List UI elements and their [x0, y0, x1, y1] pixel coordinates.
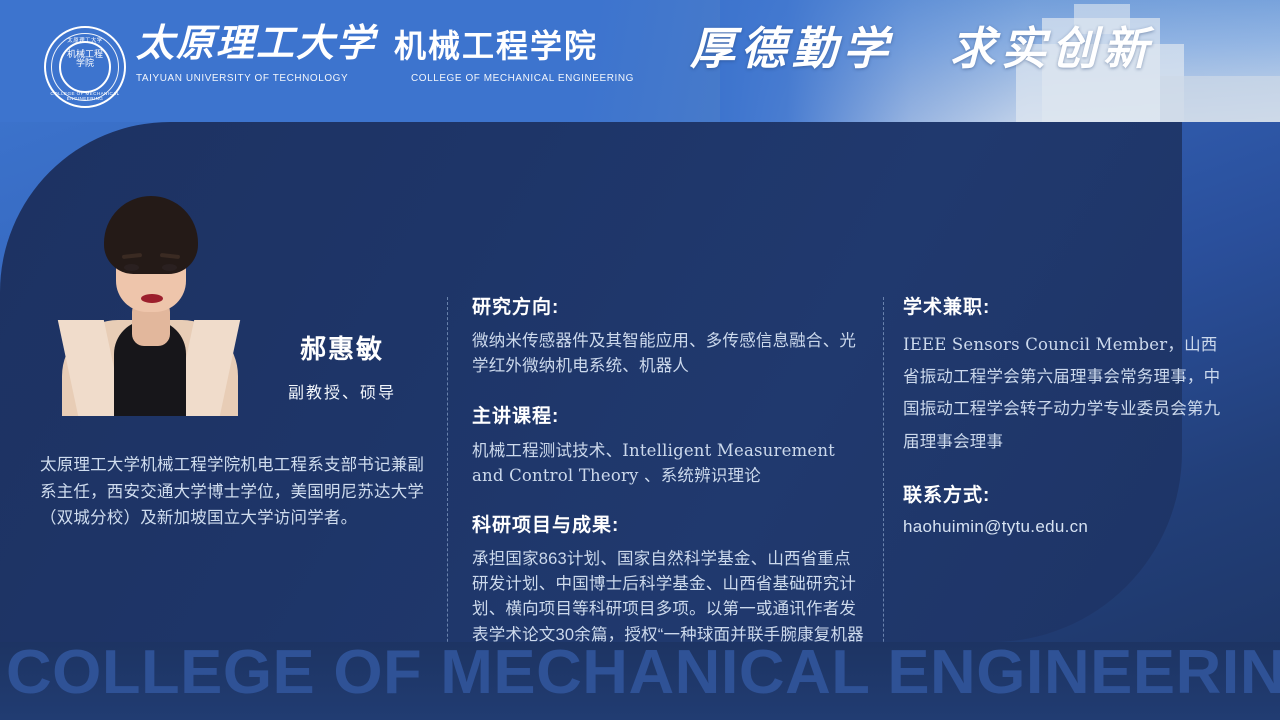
faculty-bio: 太原理工大学机械工程学院机电工程系支部书记兼副系主任，西安交通大学博士学位，美国… [40, 452, 432, 532]
seal-center-text: 机械工程学院 [66, 50, 104, 82]
motto-calligraphy: 厚德勤学 求实创新 [690, 26, 1154, 71]
seal-arc-bottom-text: COLLEGE OF MECHANICAL ENGINEERING [44, 91, 126, 101]
portrait-hair-shape [104, 196, 198, 274]
college-name-en: COLLEGE OF MECHANICAL ENGINEERING [411, 72, 634, 84]
building-shape-right [1160, 76, 1280, 122]
courses-heading: 主讲课程: [472, 401, 864, 428]
contact-heading: 联系方式: [903, 480, 1233, 507]
courses-body: 机械工程测试技术、Intelligent Measurement and Con… [472, 438, 864, 488]
profile-card-page: 太原理工大学 机械工程学院 COLLEGE OF MECHANICAL ENGI… [0, 0, 1280, 720]
motto-left-text: 厚德勤学 [690, 26, 894, 71]
seal-arc-top-text: 太原理工大学 [44, 36, 126, 44]
research-heading: 研究方向: [472, 292, 864, 319]
appointments-heading: 学术兼职: [903, 292, 1233, 319]
column-right: 学术兼职: IEEE Sensors Council Member，山西省振动工… [903, 292, 1233, 537]
contact-email[interactable]: haohuimin@tytu.edu.cn [903, 517, 1233, 537]
portrait-lips [141, 294, 163, 303]
research-body: 微纳米传感器件及其智能应用、多传感信息融合、光学红外微纳机电系统、机器人 [472, 329, 864, 379]
university-name-en: TAIYUAN UNIVERSITY OF TECHNOLOGY [136, 72, 348, 84]
university-seal-icon: 太原理工大学 机械工程学院 COLLEGE OF MECHANICAL ENGI… [44, 26, 126, 108]
brand-block: 太原理工大学 机械工程学院 TAIYUAN UNIVERSITY OF TECH… [136, 24, 646, 84]
faculty-title: 副教授、硕导 [252, 379, 432, 403]
faculty-portrait-photo [38, 176, 260, 416]
page-header: 太原理工大学 机械工程学院 COLLEGE OF MECHANICAL ENGI… [0, 0, 1280, 122]
brand-english-row: TAIYUAN UNIVERSITY OF TECHNOLOGY COLLEGE… [136, 72, 646, 84]
university-name-cn: 太原理工大学 [136, 24, 376, 62]
college-name-cn: 机械工程学院 [394, 30, 598, 62]
page-footer: COLLEGE OF MECHANICAL ENGINEERING [0, 642, 1280, 720]
portrait-eye-left [124, 264, 139, 271]
brand-chinese-row: 太原理工大学 机械工程学院 [136, 24, 646, 62]
column-divider-left [447, 297, 448, 697]
faculty-name: 郝惠敏 [252, 334, 432, 365]
footer-banner-text: COLLEGE OF MECHANICAL ENGINEERING [6, 642, 1280, 712]
faculty-identity: 郝惠敏 副教授、硕导 [252, 334, 432, 403]
portrait-eye-right [162, 264, 177, 271]
projects-heading: 科研项目与成果: [472, 510, 864, 537]
column-middle: 研究方向: 微纳米传感器件及其智能应用、多传感信息融合、光学红外微纳机电系统、机… [472, 292, 864, 698]
faculty-card: 郝惠敏 副教授、硕导 太原理工大学机械工程学院机电工程系支部书记兼副系主任，西安… [0, 122, 1182, 642]
appointments-body: IEEE Sensors Council Member，山西省振动工程学会第六届… [903, 329, 1233, 458]
column-divider-right [883, 297, 884, 697]
motto-right-text: 求实创新 [950, 26, 1154, 71]
